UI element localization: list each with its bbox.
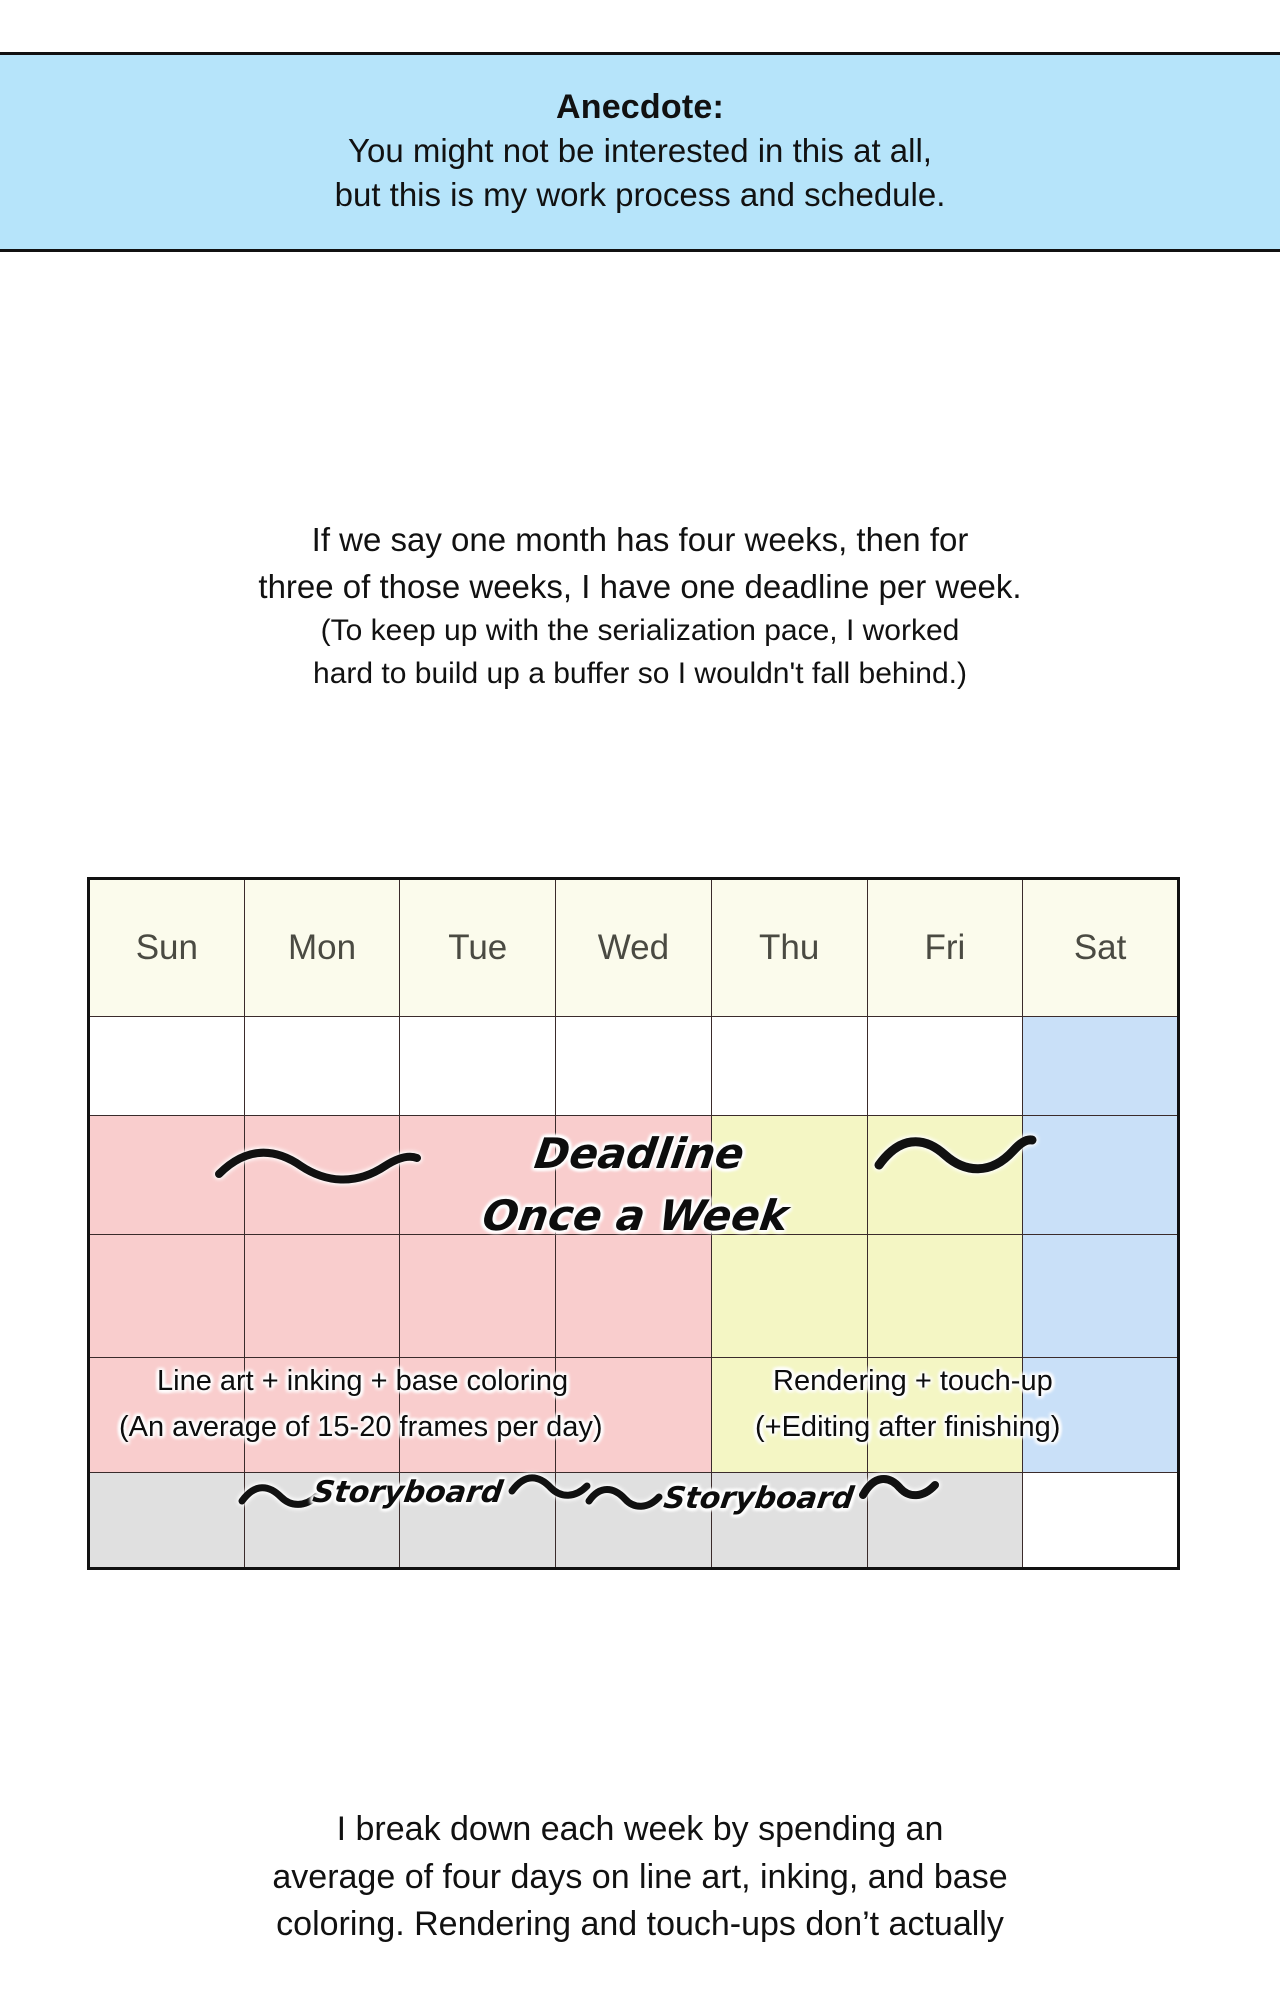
cell-deadline-sat	[1023, 1116, 1179, 1235]
calendar-work-row-upper	[89, 1235, 1179, 1358]
day-header-fri: Fri	[867, 879, 1023, 1017]
calendar-storyboard-row	[89, 1473, 1179, 1569]
cell-work-upper-mon	[244, 1235, 400, 1358]
cell-work-upper-sun	[89, 1235, 245, 1358]
cell-deadline-mon	[244, 1116, 400, 1235]
cell-blank-sun	[89, 1017, 245, 1116]
cell-story-fri	[867, 1473, 1023, 1569]
day-header-mon: Mon	[244, 879, 400, 1017]
cell-work-lower-mon	[244, 1358, 400, 1473]
cell-blank-thu	[711, 1017, 867, 1116]
cell-blank-mon	[244, 1017, 400, 1116]
intro-line-1: If we say one month has four weeks, then…	[0, 516, 1280, 563]
cell-work-lower-sat	[1023, 1358, 1179, 1473]
day-header-wed: Wed	[556, 879, 712, 1017]
cell-story-tue	[400, 1473, 556, 1569]
outro-line-1: I break down each week by spending an	[0, 1806, 1280, 1854]
cell-story-sat	[1023, 1473, 1179, 1569]
cell-work-lower-wed	[556, 1358, 712, 1473]
cell-deadline-wed	[556, 1116, 712, 1235]
cell-blank-fri	[867, 1017, 1023, 1116]
day-header-tue: Tue	[400, 879, 556, 1017]
cell-work-upper-fri	[867, 1235, 1023, 1358]
cell-work-lower-tue	[400, 1358, 556, 1473]
cell-work-upper-sat	[1023, 1235, 1179, 1358]
cell-work-lower-fri	[867, 1358, 1023, 1473]
cell-work-upper-tue	[400, 1235, 556, 1358]
intro-sub-line-2: hard to build up a buffer so I wouldn't …	[0, 653, 1280, 696]
calendar-table: Sun Mon Tue Wed Thu Fri Sat	[87, 877, 1180, 1570]
outro-line-3: coloring. Rendering and touch-ups don’t …	[0, 1901, 1280, 1949]
day-header-sat: Sat	[1023, 879, 1179, 1017]
cell-deadline-sun	[89, 1116, 245, 1235]
calendar-blank-row	[89, 1017, 1179, 1116]
intro-line-2: three of those weeks, I have one deadlin…	[0, 563, 1280, 610]
cell-story-sun	[89, 1473, 245, 1569]
cell-blank-sat	[1023, 1017, 1179, 1116]
calendar-work-row-lower	[89, 1358, 1179, 1473]
calendar-deadline-row	[89, 1116, 1179, 1235]
banner-title: Anecdote:	[556, 86, 724, 129]
anecdote-banner: Anecdote: You might not be interested in…	[0, 52, 1280, 252]
cell-work-lower-thu	[711, 1358, 867, 1473]
cell-blank-tue	[400, 1017, 556, 1116]
day-header-sun: Sun	[89, 879, 245, 1017]
cell-deadline-fri	[867, 1116, 1023, 1235]
outro-paragraph: I break down each week by spending an av…	[0, 1806, 1280, 1949]
banner-line-1: You might not be interested in this at a…	[348, 129, 932, 174]
weekly-schedule-calendar: Sun Mon Tue Wed Thu Fri Sat	[87, 877, 1180, 1570]
calendar-header-row: Sun Mon Tue Wed Thu Fri Sat	[89, 879, 1179, 1017]
intro-sub-line-1: (To keep up with the serialization pace,…	[0, 610, 1280, 653]
cell-blank-wed	[556, 1017, 712, 1116]
banner-line-2: but this is my work process and schedule…	[335, 173, 946, 218]
outro-line-2: average of four days on line art, inking…	[0, 1854, 1280, 1902]
cell-deadline-thu	[711, 1116, 867, 1235]
cell-story-wed	[556, 1473, 712, 1569]
intro-paragraph: If we say one month has four weeks, then…	[0, 516, 1280, 696]
cell-story-thu	[711, 1473, 867, 1569]
day-header-thu: Thu	[711, 879, 867, 1017]
cell-work-lower-sun	[89, 1358, 245, 1473]
cell-work-upper-wed	[556, 1235, 712, 1358]
cell-story-mon	[244, 1473, 400, 1569]
cell-work-upper-thu	[711, 1235, 867, 1358]
cell-deadline-tue	[400, 1116, 556, 1235]
